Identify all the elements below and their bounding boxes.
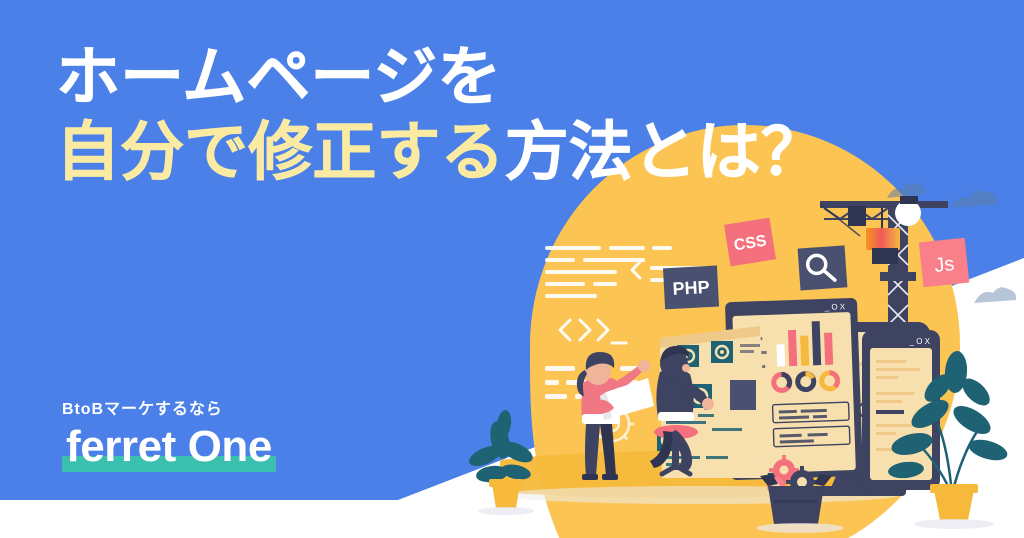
headline-line-1: ホームページを bbox=[56, 46, 825, 109]
js-badge: Js bbox=[919, 238, 969, 288]
headline-line-2-white: 方法とは？ bbox=[505, 116, 825, 188]
page-title: ホームページを 自分で修正する方法とは？ bbox=[56, 46, 825, 183]
php-badge: PHP bbox=[663, 266, 719, 310]
tablet-chrome-label: _ O X bbox=[909, 337, 931, 346]
logo-wordmark-wrap: ferret One bbox=[62, 425, 276, 474]
php-badge-label: PHP bbox=[672, 277, 710, 299]
headline-line-2: 自分で修正する方法とは？ bbox=[56, 121, 825, 184]
search-icon-badge bbox=[798, 245, 848, 290]
css-badge: CSS bbox=[724, 218, 776, 267]
logo-wordmark: ferret One bbox=[66, 425, 272, 470]
brand-logo[interactable]: BtoBマーケするなら ferret One bbox=[62, 395, 276, 474]
banner-canvas: PHP CSS Js bbox=[0, 0, 1024, 538]
js-badge-label: Js bbox=[933, 253, 955, 277]
browser-chrome-label: _ O X bbox=[824, 302, 846, 312]
headline-line-2-yellow: 自分で修正する bbox=[56, 116, 505, 188]
logo-tagline: BtoBマーケするなら bbox=[62, 395, 276, 419]
